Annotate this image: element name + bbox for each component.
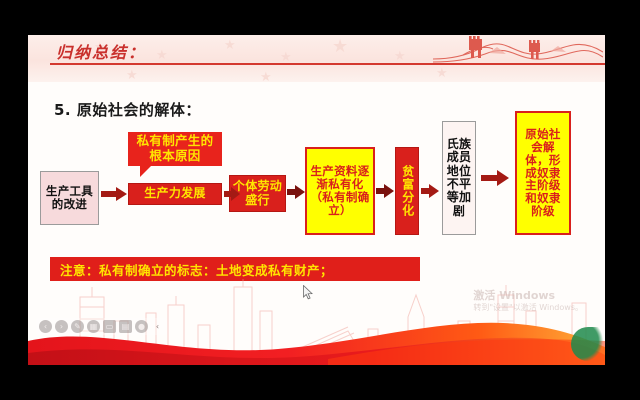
previous-slide-icon[interactable]: ‹ (39, 320, 52, 333)
icon-glyph: ▦ (90, 322, 98, 331)
flow-box-label: 贫富分化 (400, 165, 413, 217)
page-heading: 5. 原始社会的解体： (54, 99, 201, 120)
callout-root-cause: 私有制产生的根本原因 (128, 132, 222, 166)
arrow-tools-to-productive (101, 187, 127, 201)
flow-box-clan-inequality[interactable]: 氏族成员地位不平等加剧 (442, 121, 476, 235)
end-show-icon[interactable]: ‹ (151, 320, 164, 333)
slide-grid-icon[interactable]: ▦ (87, 320, 100, 333)
green-leaf-decor (571, 327, 605, 361)
star-decor-icon: ★ (332, 38, 348, 56)
arrow-wealth-to-clan (421, 184, 439, 198)
icon-glyph: ▤ (122, 322, 130, 331)
windows-activation-watermark: 激活 Windows 转到"设置"以激活 Windows。 (473, 289, 583, 313)
flow-box-productive-forces[interactable]: 生产力发展 (128, 183, 222, 205)
star-decor-icon: ★ (156, 49, 168, 62)
flow-box-society-collapse[interactable]: 原始社会解体，形成奴隶主阶级和奴隶阶级 (515, 111, 571, 235)
icon-glyph: ‹ (156, 322, 159, 331)
icon-glyph: ✎ (74, 322, 81, 331)
mouse-cursor (303, 285, 314, 301)
arrow-means-to-wealth (376, 184, 394, 198)
icon-glyph: › (60, 322, 63, 331)
star-decor-icon: ★ (126, 69, 138, 82)
icon-glyph: ▭ (106, 322, 114, 331)
watermark-line-1: 激活 Windows (473, 289, 583, 303)
great-wall-icon (433, 35, 603, 79)
arrow-individual-to-means (287, 185, 305, 199)
arrow-productive-to-individual (224, 187, 240, 201)
slide-header-band: ★ ★ ★ ★ ★ ★ ★ ★ ★ (28, 35, 605, 82)
pen-tool-icon[interactable]: ✎ (71, 320, 84, 333)
flow-box-label: 生产工具的改进 (43, 185, 96, 211)
note-text: 注意：私有制确立的标志：土地变成私有财产； (60, 260, 333, 279)
flow-box-label: 氏族成员地位不平等加剧 (445, 138, 473, 219)
more-options-icon[interactable]: ● (135, 320, 148, 333)
flow-box-tools[interactable]: 生产工具的改进 (40, 171, 99, 225)
flow-box-label: 原始社会解体，形成奴隶主阶级和奴隶阶级 (520, 128, 566, 218)
header-divider (50, 63, 605, 65)
flow-box-means-of-production[interactable]: 生产资料逐渐私有化（私有制确立） (305, 147, 375, 235)
icon-glyph: ● (138, 322, 145, 331)
flow-box-label: 生产力发展 (144, 187, 206, 200)
screen: ★ ★ ★ ★ ★ ★ ★ ★ ★ (0, 0, 640, 400)
slideshow-toolbar[interactable]: ‹ › ✎ ▦ ▭ ▤ ● ‹ (36, 318, 167, 335)
star-decor-icon: ★ (260, 71, 272, 82)
flow-box-wealth-polarization[interactable]: 贫富分化 (395, 147, 419, 235)
callout-text: 私有制产生的根本原因 (132, 134, 218, 164)
next-slide-icon[interactable]: › (55, 320, 68, 333)
star-decor-icon: ★ (224, 39, 236, 52)
watermark-line-2: 转到"设置"以激活 Windows。 (473, 303, 583, 313)
presentation-slide: ★ ★ ★ ★ ★ ★ ★ ★ ★ (28, 35, 605, 365)
arrow-clan-to-collapse (481, 170, 509, 186)
flow-box-label: 生产资料逐渐私有化（私有制确立） (310, 165, 370, 217)
zoom-icon[interactable]: ▭ (103, 320, 116, 333)
icon-glyph: ‹ (44, 322, 47, 331)
callout-tail (140, 166, 151, 177)
star-decor-icon: ★ (394, 50, 406, 63)
slide-title: 归纳总结： (56, 39, 146, 63)
subtitle-icon[interactable]: ▤ (119, 320, 132, 333)
